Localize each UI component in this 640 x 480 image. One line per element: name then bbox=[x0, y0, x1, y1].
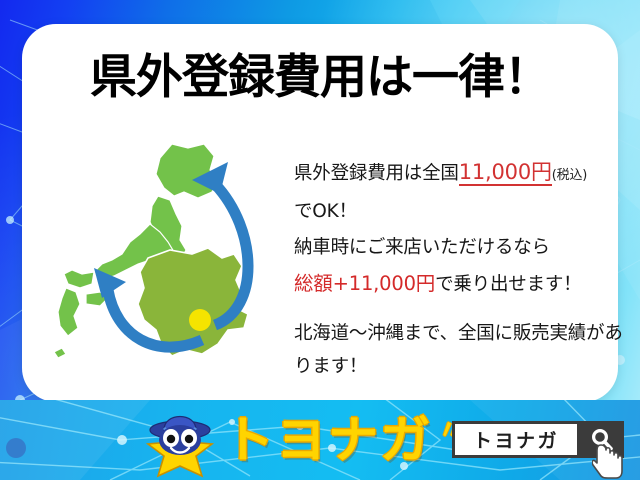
total-amount: 総額+11,000円 bbox=[294, 272, 435, 295]
store-location-dot bbox=[189, 309, 211, 331]
body-copy: 県外登録費用は全国11,000円(税込) でOK！ 納車時にご来店いただけるなら… bbox=[294, 154, 624, 383]
page-title: 県外登録費用は一律！ bbox=[22, 50, 618, 106]
hand-pointer-icon bbox=[592, 443, 626, 479]
copy-line-4: 総額+11,000円で乗り出せます！ bbox=[294, 266, 624, 303]
advertisement-slide: 県外登録費用は一律！ bbox=[0, 0, 640, 480]
copy-line-1: 県外登録費用は全国11,000円(税込) bbox=[294, 154, 624, 194]
copy-line-2: でOK！ bbox=[294, 194, 624, 230]
copy-line-1-prefix: 県外登録費用は全国 bbox=[294, 163, 459, 184]
copy-line-4-rest: で乗り出せます！ bbox=[435, 274, 581, 295]
content-card: 県外登録費用は一律！ bbox=[22, 24, 618, 402]
brand-logo-text: トヨナガ bbox=[224, 404, 432, 476]
copy-line-3: 納車時にご来店いただけるなら bbox=[294, 230, 624, 266]
price-amount: 11,000円 bbox=[459, 160, 552, 186]
copy-line-5: 北海道〜沖縄まで、全国に販売実績があります！ bbox=[294, 317, 624, 383]
toyonaga-mascot bbox=[140, 404, 220, 478]
search-input-value: トヨナガ bbox=[473, 426, 559, 453]
tax-note: (税込) bbox=[552, 168, 587, 183]
copy-spacer bbox=[294, 303, 624, 317]
search-input[interactable]: トヨナガ bbox=[452, 421, 580, 458]
japan-map-illustration bbox=[52, 122, 292, 402]
